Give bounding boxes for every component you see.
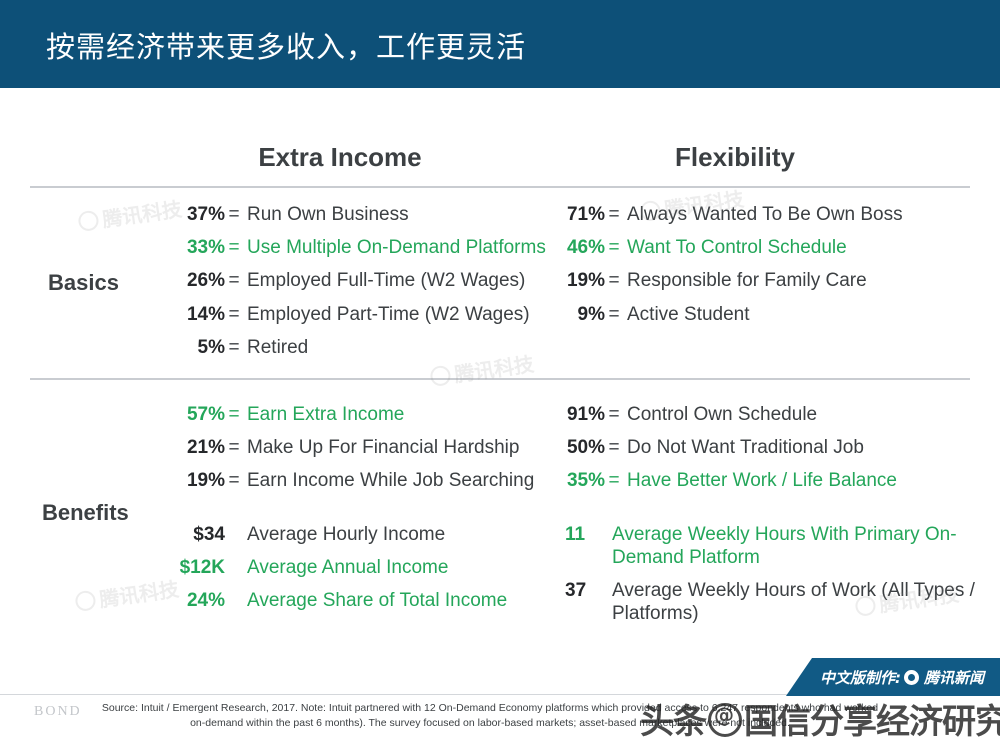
stat-equals-sign: =	[605, 203, 623, 226]
stat-equals-sign: =	[605, 403, 623, 426]
stat-equals-sign: =	[225, 436, 243, 459]
stat-label: Retired	[243, 336, 555, 359]
stat-row: 5%=Retired	[95, 336, 555, 359]
slide-root: 按需经济带来更多收入，工作更灵活 Extra Income Flexibilit…	[0, 0, 1000, 747]
stat-row: 24%=Average Share of Total Income	[95, 589, 565, 612]
stat-row: 33%=Use Multiple On-Demand Platforms	[95, 236, 555, 259]
stat-row: 11=Average Weekly Hours With Primary On-…	[565, 523, 985, 569]
column-header-flexibility: Flexibility	[580, 142, 890, 173]
stat-label: Responsible for Family Care	[623, 269, 985, 292]
stat-equals-sign: =	[225, 203, 243, 226]
stat-equals-sign: =	[605, 236, 623, 259]
stat-value: 71%	[565, 203, 605, 226]
stat-value: 9%	[565, 303, 605, 326]
stat-equals-sign: =	[225, 403, 243, 426]
stat-label: Use Multiple On-Demand Platforms	[243, 236, 555, 259]
stat-label: Make Up For Financial Hardship	[243, 436, 565, 459]
stat-value: 37	[565, 579, 612, 602]
column-header-extra-income: Extra Income	[160, 142, 520, 173]
stat-value: 46%	[565, 236, 605, 259]
stat-equals-sign: =	[605, 436, 623, 459]
stat-value: 26%	[95, 269, 225, 292]
stats-benefits-flexibility: 91%=Control Own Schedule50%=Do Not Want …	[565, 403, 985, 635]
stats-basics-extra-income: 37%=Run Own Business33%=Use Multiple On-…	[95, 203, 555, 369]
stat-row: 37=Average Weekly Hours of Work (All Typ…	[565, 579, 985, 625]
stat-label: Employed Full-Time (W2 Wages)	[243, 269, 555, 292]
page-title: 按需经济带来更多收入，工作更灵活	[46, 24, 526, 66]
stat-value: 19%	[565, 269, 605, 292]
stat-equals-sign: =	[225, 236, 243, 259]
stat-row: 46%=Want To Control Schedule	[565, 236, 985, 259]
stat-label: Average Hourly Income	[235, 523, 565, 546]
stat-equals-sign: =	[225, 469, 243, 492]
stat-row: $34=Average Hourly Income	[95, 523, 565, 546]
stat-value: 11	[565, 523, 612, 546]
stat-row: 26%=Employed Full-Time (W2 Wages)	[95, 269, 555, 292]
stat-row: 57%=Earn Extra Income	[95, 403, 565, 426]
badge-brand-label: 腾讯新闻	[924, 667, 984, 688]
stat-label: Employed Part-Time (W2 Wages)	[243, 303, 555, 326]
stat-value: 91%	[565, 403, 605, 426]
tencent-logo-icon	[904, 670, 919, 685]
stat-row: 71%=Always Wanted To Be Own Boss	[565, 203, 985, 226]
stat-row: 37%=Run Own Business	[95, 203, 555, 226]
divider-top	[30, 186, 970, 188]
stat-label: Average Annual Income	[235, 556, 565, 579]
stat-label: Run Own Business	[243, 203, 555, 226]
row-spacer	[95, 503, 565, 523]
stats-benefits-extra-income: 57%=Earn Extra Income21%=Make Up For Fin…	[95, 403, 565, 622]
stat-value: 50%	[565, 436, 605, 459]
stat-value: 21%	[95, 436, 225, 459]
stat-value: 19%	[95, 469, 225, 492]
stat-label: Active Student	[623, 303, 985, 326]
stats-basics-flexibility: 71%=Always Wanted To Be Own Boss46%=Want…	[565, 203, 985, 336]
stat-equals-sign: =	[225, 269, 243, 292]
stat-label: Average Share of Total Income	[235, 589, 565, 612]
watermark-logo-icon	[74, 590, 97, 613]
stat-row: $12K=Average Annual Income	[95, 556, 565, 579]
row-spacer	[565, 503, 985, 523]
stat-label: Do Not Want Traditional Job	[623, 436, 985, 459]
stat-row: 21%=Make Up For Financial Hardship	[95, 436, 565, 459]
source-note: Source: Intuit / Emergent Research, 2017…	[95, 701, 885, 731]
stat-value: 33%	[95, 236, 225, 259]
stat-label: Have Better Work / Life Balance	[623, 469, 985, 492]
badge-prefix-label: 中文版制作:	[820, 667, 901, 688]
stat-row: 91%=Control Own Schedule	[565, 403, 985, 426]
stat-label: Always Wanted To Be Own Boss	[623, 203, 985, 226]
stat-label: Want To Control Schedule	[623, 236, 985, 259]
stat-value: 14%	[95, 303, 225, 326]
stat-row: 19%=Responsible for Family Care	[565, 269, 985, 292]
stat-value: $12K	[95, 556, 225, 579]
stat-equals-sign: =	[225, 303, 243, 326]
stat-label: Average Weekly Hours of Work (All Types …	[612, 579, 985, 625]
stat-value: 24%	[95, 589, 225, 612]
stat-label: Earn Income While Job Searching	[243, 469, 565, 492]
stat-equals-sign: =	[225, 336, 243, 359]
stat-row: 19%=Earn Income While Job Searching	[95, 469, 565, 492]
stat-value: 5%	[95, 336, 225, 359]
stat-row: 14%=Employed Part-Time (W2 Wages)	[95, 303, 555, 326]
divider-middle	[30, 378, 970, 380]
stat-value: 35%	[565, 469, 605, 492]
stat-row: 50%=Do Not Want Traditional Job	[565, 436, 985, 459]
stat-value: 37%	[95, 203, 225, 226]
stat-equals-sign: =	[605, 269, 623, 292]
stat-value: 57%	[95, 403, 225, 426]
stat-equals-sign: =	[605, 469, 623, 492]
stat-equals-sign: =	[605, 303, 623, 326]
stat-label: Average Weekly Hours With Primary On-Dem…	[612, 523, 985, 569]
stat-label: Control Own Schedule	[623, 403, 985, 426]
stat-row: 35%=Have Better Work / Life Balance	[565, 469, 985, 492]
bond-logo: BOND	[34, 704, 82, 720]
tencent-news-badge: 中文版制作: 腾讯新闻	[786, 658, 1000, 696]
stat-row: 9%=Active Student	[565, 303, 985, 326]
stat-label: Earn Extra Income	[243, 403, 565, 426]
stat-value: $34	[95, 523, 225, 546]
